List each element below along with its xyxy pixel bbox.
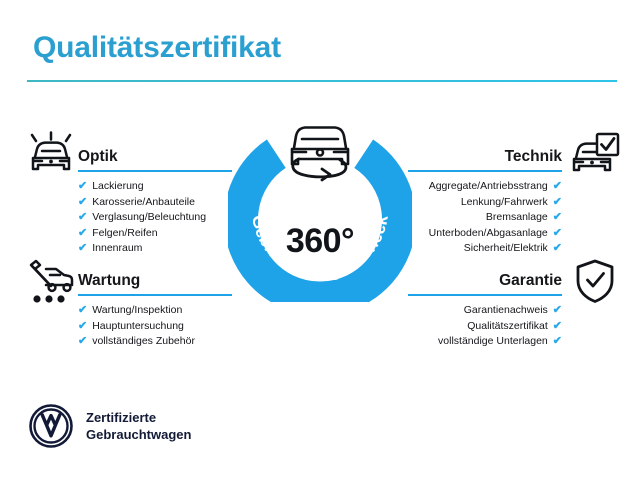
section-divider [408,294,562,296]
page-title: Qualitätszertifikat [33,31,281,65]
check-icon: ✔ [78,319,87,335]
section-divider [78,170,232,172]
footer-line-2: Gebrauchtwagen [86,426,191,443]
badge-number: 360° [228,222,412,261]
list-item: ✔vollständiges Zubehör [78,334,232,350]
list-item: ✔Hauptuntersuchung [78,319,232,335]
check-icon: ✔ [553,210,562,226]
list-item-label: Innenraum [92,241,142,257]
car-rotate-icon [278,112,362,186]
check-icon: ✔ [553,195,562,211]
section-technik: Technik Aggregate/Antriebsstrang✔ Lenkun… [408,142,562,257]
list-item-label: Bremsanlage [486,210,548,226]
list-item-label: Aggregate/Antriebsstrang [429,179,548,195]
list-item-label: Wartung/Inspektion [92,303,182,319]
section-title-wartung: Wartung [78,272,140,290]
footer-brand: Zertifizierte Gebrauchtwagen [29,404,191,448]
check-icon: ✔ [78,334,87,350]
list-item-label: Unterboden/Abgasanlage [429,226,548,242]
check-icon: ✔ [553,334,562,350]
list-item: Unterboden/Abgasanlage✔ [408,226,562,242]
section-title-optik: Optik [78,148,118,166]
check-icon: ✔ [78,179,87,195]
header-divider [27,80,617,82]
list-item-label: Hauptuntersuchung [92,319,184,335]
list-item: Lenkung/Fahrwerk✔ [408,195,562,211]
check-icon: ✔ [78,303,87,319]
shield-check-icon [574,258,616,304]
section-header: Optik [78,142,232,172]
check-icon: ✔ [553,241,562,257]
section-garantie: Garantie Garantienachweis✔ Qualitätszert… [408,266,562,350]
check-icon: ✔ [78,226,87,242]
list-item-label: Garantienachweis [464,303,548,319]
list-item: Aggregate/Antriebsstrang✔ [408,179,562,195]
list-item-label: Felgen/Reifen [92,226,157,242]
section-header: Wartung [78,266,232,296]
list-item-label: vollständiges Zubehör [92,334,195,350]
list-item: ✔Karosserie/Anbauteile [78,195,232,211]
section-title-garantie: Garantie [499,272,562,290]
check-icon: ✔ [553,226,562,242]
vw-logo [29,404,73,448]
badge-360: Gebrauchtwagen-Check 360° [228,118,412,302]
section-divider [408,170,562,172]
footer-line-1: Zertifizierte [86,409,191,426]
list-item: ✔Lackierung [78,179,232,195]
list-item: ✔Felgen/Reifen [78,226,232,242]
check-icon: ✔ [553,319,562,335]
section-header: Technik [408,142,562,172]
list-item-label: Verglasung/Beleuchtung [92,210,206,226]
certificate-page: Qualitätszertifikat Gebrauchtwagen-Check… [0,0,640,480]
list-item-label: vollständige Unterlagen [438,334,548,350]
footer-text: Zertifizierte Gebrauchtwagen [86,409,191,443]
list-item-label: Lackierung [92,179,143,195]
checklist-garantie: Garantienachweis✔ Qualitätszertifikat✔ v… [408,303,562,350]
list-item: ✔Innenraum [78,241,232,257]
checklist-optik: ✔Lackierung ✔Karosserie/Anbauteile ✔Verg… [78,179,232,257]
checklist-technik: Aggregate/Antriebsstrang✔ Lenkung/Fahrwe… [408,179,562,257]
list-item: vollständige Unterlagen✔ [408,334,562,350]
section-wartung: Wartung ✔Wartung/Inspektion ✔Hauptunters… [78,266,232,350]
list-item: Garantienachweis✔ [408,303,562,319]
list-item: ✔Verglasung/Beleuchtung [78,210,232,226]
check-icon: ✔ [553,179,562,195]
section-title-technik: Technik [505,148,562,166]
list-item-label: Karosserie/Anbauteile [92,195,195,211]
check-icon: ✔ [78,241,87,257]
list-item-label: Qualitätszertifikat [467,319,548,335]
list-item-label: Sicherheit/Elektrik [464,241,548,257]
wrench-car-icon [26,259,76,305]
list-item-label: Lenkung/Fahrwerk [461,195,548,211]
list-item: Bremsanlage✔ [408,210,562,226]
list-item: Sicherheit/Elektrik✔ [408,241,562,257]
car-polish-icon [26,131,76,175]
section-divider [78,294,232,296]
section-header: Garantie [408,266,562,296]
check-icon: ✔ [553,303,562,319]
car-checkbox-icon [568,131,620,175]
check-icon: ✔ [78,195,87,211]
checklist-wartung: ✔Wartung/Inspektion ✔Hauptuntersuchung ✔… [78,303,232,350]
list-item: Qualitätszertifikat✔ [408,319,562,335]
check-icon: ✔ [78,210,87,226]
list-item: ✔Wartung/Inspektion [78,303,232,319]
section-optik: Optik ✔Lackierung ✔Karosserie/Anbauteile… [78,142,232,257]
